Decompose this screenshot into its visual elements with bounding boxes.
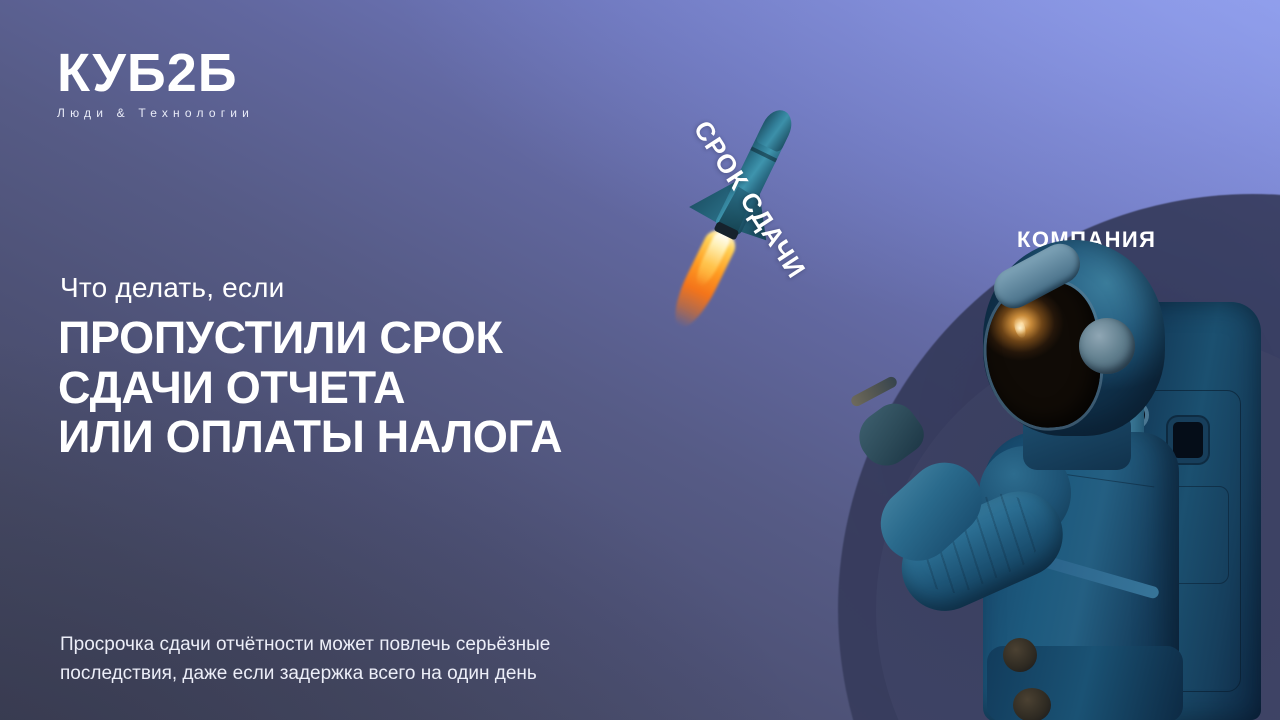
belt-fitting-upper (1003, 638, 1037, 672)
brand-logo[interactable]: КУБ2Б Люди & Технологии (57, 48, 254, 120)
subcopy-line-1: Просрочка сдачи отчётности может повлечь… (60, 631, 700, 660)
astronaut-glove (849, 395, 931, 475)
astronaut-icon (855, 240, 1280, 720)
hero-eyebrow: Что делать, если (60, 272, 285, 304)
headline-line-1: ПРОПУСТИЛИ СРОК (58, 313, 758, 363)
hero-headline: ПРОПУСТИЛИ СРОК СДАЧИ ОТЧЕТА ИЛИ ОПЛАТЫ … (58, 313, 758, 462)
headline-line-3: ИЛИ ОПЛАТЫ НАЛОГА (58, 412, 758, 462)
brand-logo-text: КУБ2Б (57, 48, 254, 100)
hero-subcopy: Просрочка сдачи отчётности может повлечь… (60, 631, 700, 689)
brand-tagline: Люди & Технологии (57, 106, 254, 120)
banner-canvas: КУБ2Б Люди & Технологии Что делать, если… (0, 0, 1280, 720)
backpack-vent (1173, 422, 1203, 458)
helmet-side-module (1079, 318, 1135, 374)
subcopy-line-2: последствия, даже если задержка всего на… (60, 660, 700, 689)
headline-line-2: СДАЧИ ОТЧЕТА (58, 363, 758, 413)
belt-fitting-lower (1013, 688, 1051, 720)
